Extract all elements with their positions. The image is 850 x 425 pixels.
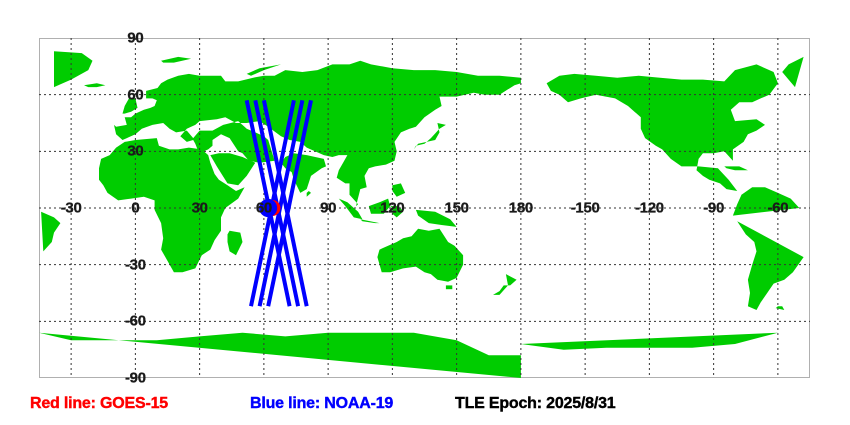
lon-tick-label: 120	[380, 201, 404, 216]
lon-tick-label: 180	[509, 201, 533, 216]
lon-tick-label: 60	[256, 201, 272, 216]
lon-tick-label: 90	[320, 201, 336, 216]
lon-tick-label: -120	[635, 201, 664, 216]
lon-tick-label: -60	[767, 201, 788, 216]
lat-tick-label: -60	[125, 314, 146, 329]
lon-tick-label: 150	[445, 201, 469, 216]
legend-tle-epoch: TLE Epoch: 2025/8/31	[455, 396, 616, 412]
lon-tick-label: -30	[61, 201, 82, 216]
legend-blue-line-noaa19: Blue line: NOAA-19	[250, 396, 393, 412]
lat-tick-label: 60	[127, 87, 143, 102]
legend-bar: Red line: GOES-15 Blue line: NOAA-19 TLE…	[0, 392, 850, 420]
lon-tick-label: 30	[192, 201, 208, 216]
lon-tick-label: -90	[703, 201, 724, 216]
legend-red-line-goes15: Red line: GOES-15	[30, 396, 168, 412]
lat-tick-label: 30	[127, 144, 143, 159]
satellite-track-layer	[39, 38, 810, 378]
satellite-ground-track-page: -300306090120150180-150-120-90-609060300…	[0, 0, 850, 425]
lon-tick-label: -150	[571, 201, 600, 216]
lat-tick-label: 0	[131, 201, 139, 216]
world-map-panel	[39, 38, 810, 378]
lat-tick-label: 90	[127, 31, 143, 46]
lat-tick-label: -90	[125, 371, 146, 386]
lat-tick-label: -30	[125, 257, 146, 272]
